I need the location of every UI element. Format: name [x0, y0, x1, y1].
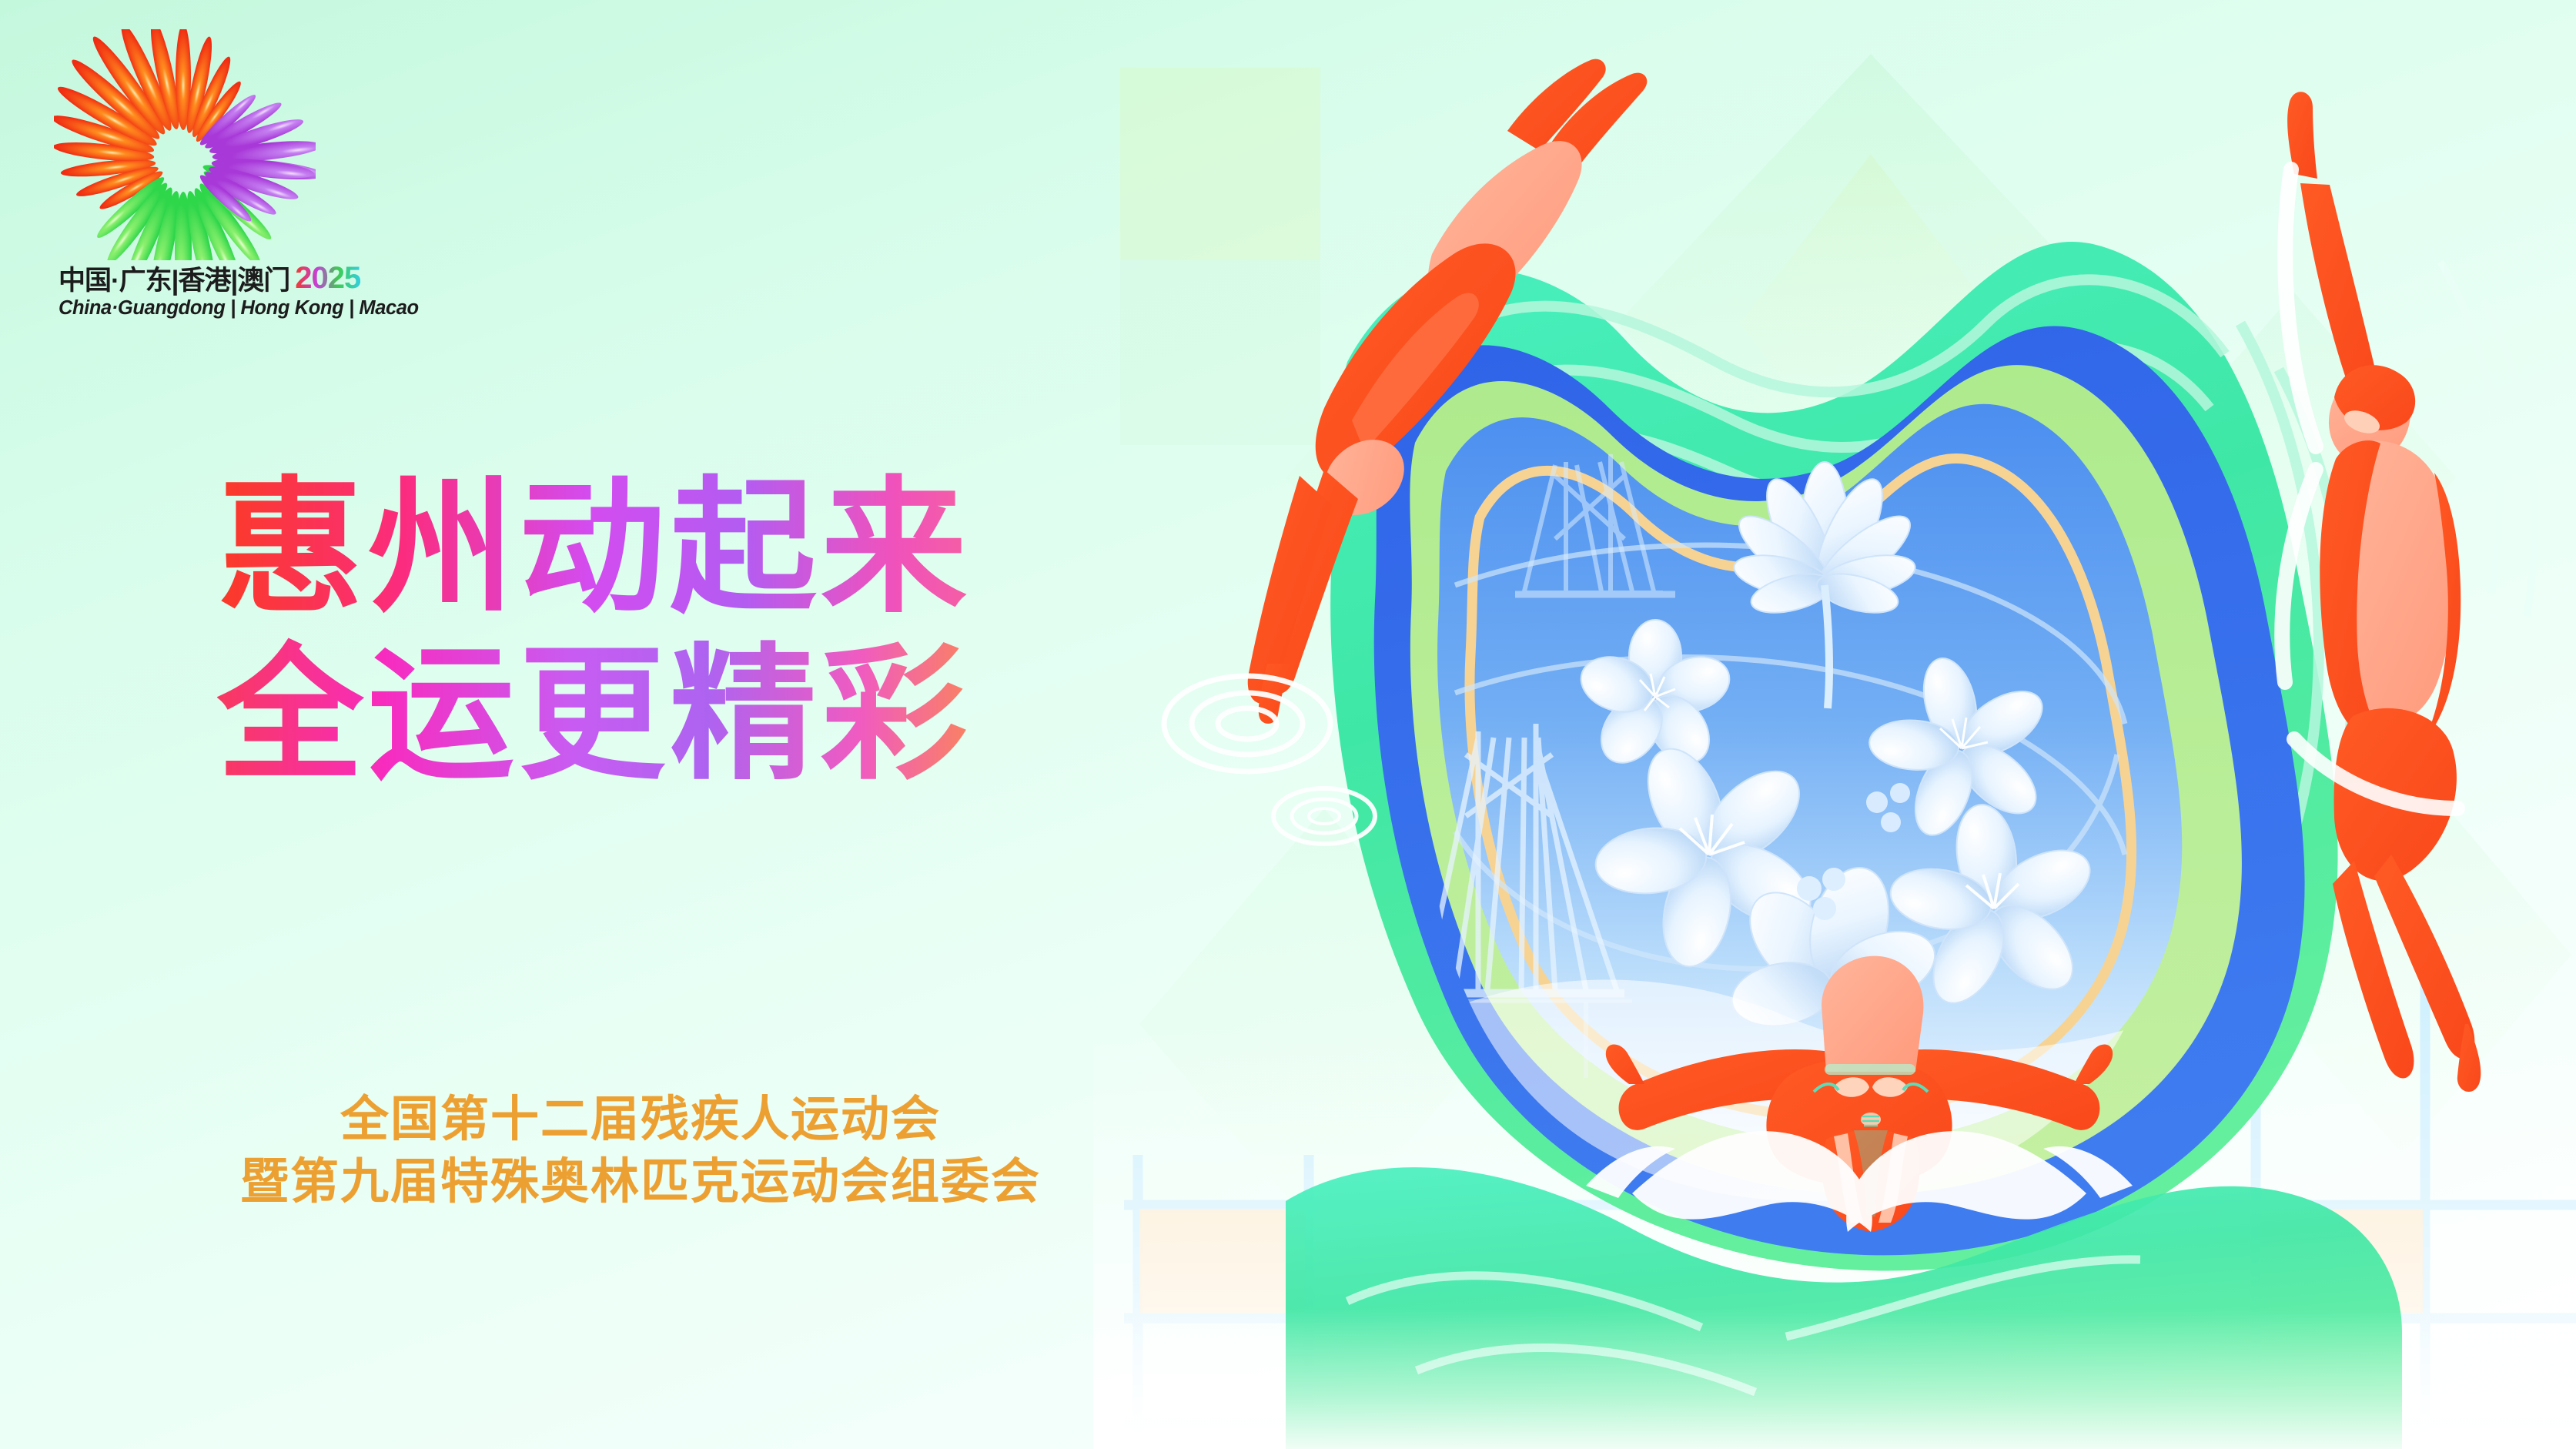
event-emblem: 中国·广东|香港|澳门 2025 China·Guangdong | Hong …	[54, 29, 316, 337]
headline-line-2: 全运更精彩	[217, 632, 1064, 799]
firework-burst-icon	[54, 29, 316, 260]
artwork-svg	[1093, 0, 2576, 1449]
bottom-fade	[1093, 1309, 2576, 1449]
organizer-subtitle: 全国第十二届残疾人运动会 暨第九届特殊奥林匹克运动会组委会	[217, 1089, 1064, 1213]
headline-line-1: 惠州动起来	[217, 465, 1064, 632]
subtitle-line-1: 全国第十二届残疾人运动会	[217, 1089, 1064, 1151]
poster-canvas: 中国·广东|香港|澳门 2025 China·Guangdong | Hong …	[0, 0, 2576, 1449]
subtitle-line-2: 暨第九届特殊奥林匹克运动会组委会	[217, 1151, 1064, 1213]
emblem-chinese-line: 中国·广东|香港|澳门 2025	[59, 260, 313, 296]
emblem-cn-text: 中国·广东|香港|澳门	[59, 259, 289, 298]
headline-block: 惠州动起来 全运更精彩	[217, 465, 1064, 798]
left-text-column: 中国·广东|香港|澳门 2025 China·Guangdong | Hong …	[0, 0, 1124, 1449]
emblem-year: 2025	[295, 261, 360, 296]
swimming-artwork	[1093, 0, 2576, 1449]
emblem-english-line: China·Guangdong | Hong Kong | Macao	[59, 297, 320, 320]
